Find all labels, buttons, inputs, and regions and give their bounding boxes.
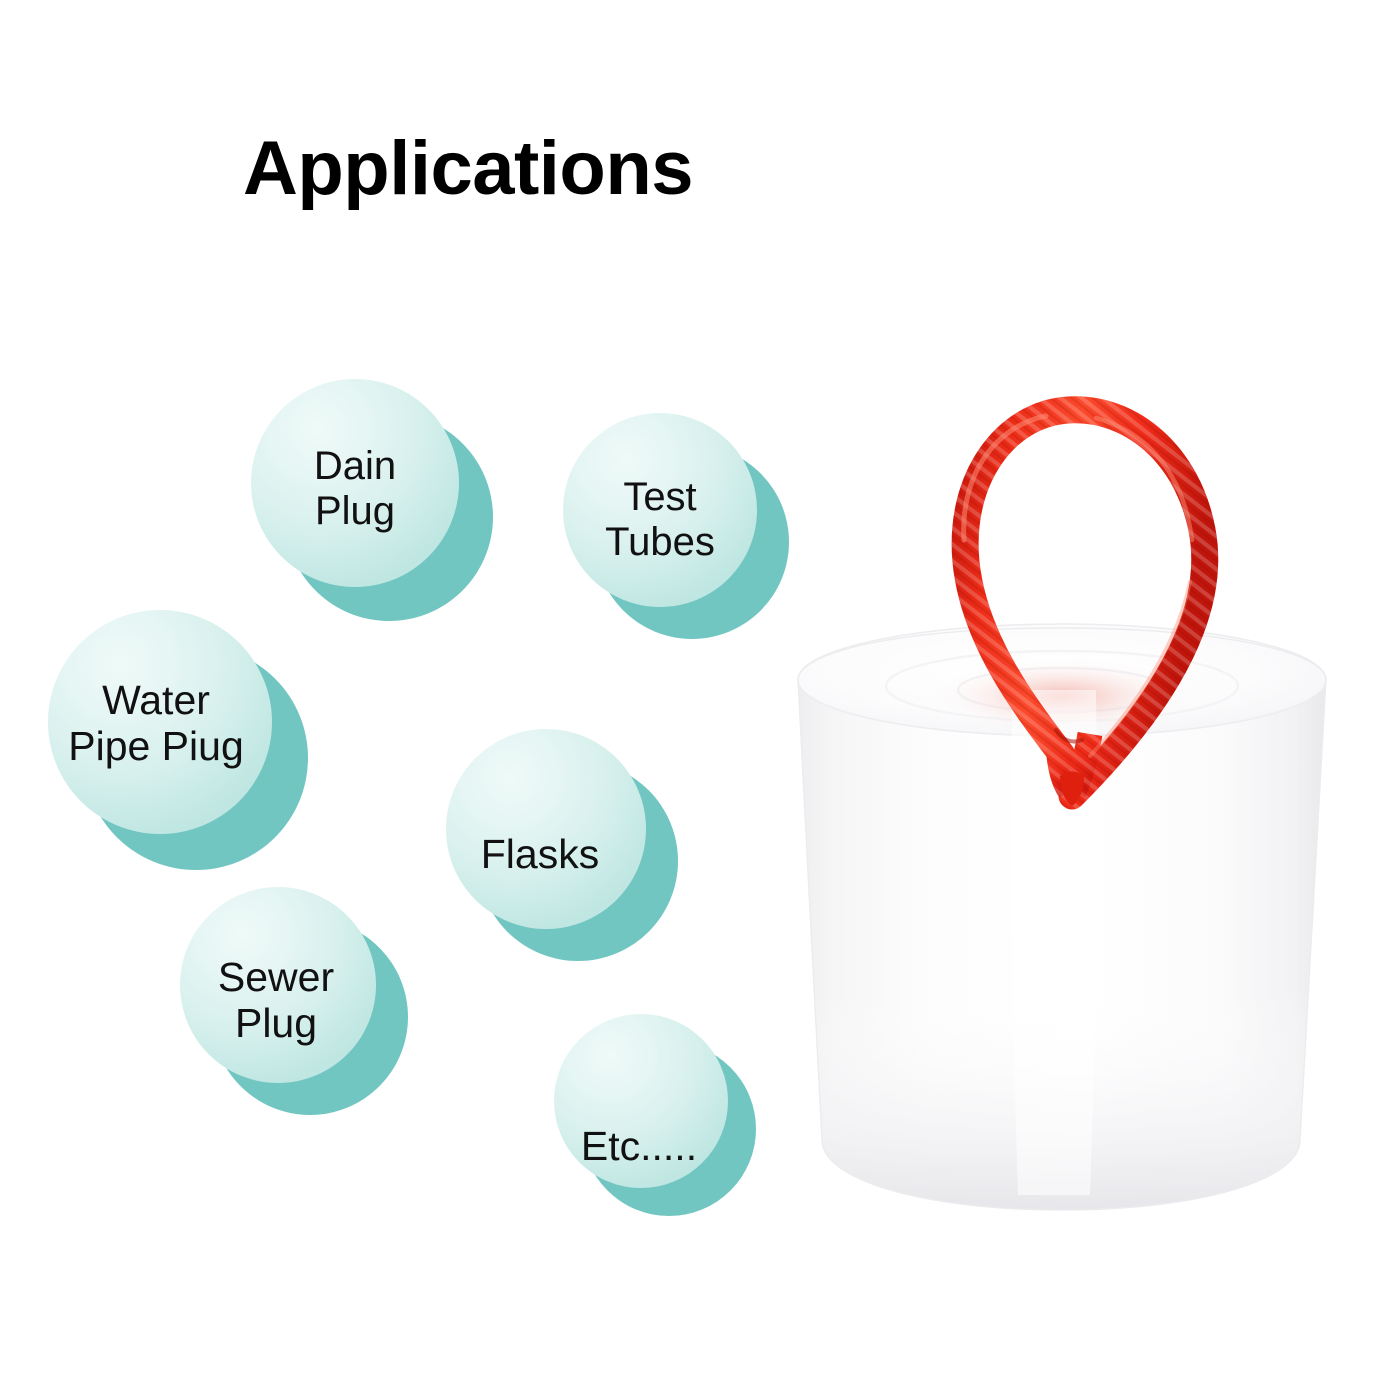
- bubble-label: Etc.....: [552, 1060, 726, 1234]
- application-bubble-etc: Etc.....: [554, 1014, 756, 1216]
- bubble-label: Dain Plug: [251, 385, 459, 593]
- page-title: Applications: [243, 131, 693, 207]
- plug-body-group: [798, 624, 1326, 1210]
- application-bubble-dain-plug: Dain Plug: [251, 379, 493, 621]
- bubble-label: Test Tubes: [563, 423, 757, 617]
- infographic-canvas: Applications Dain Plug Test Tubes Water …: [0, 0, 1400, 1400]
- bubble-label: Sewer Plug: [178, 903, 374, 1099]
- application-bubble-sewer-plug: Sewer Plug: [180, 887, 408, 1115]
- application-bubble-flasks: Flasks: [446, 729, 678, 961]
- bubble-label: Water Pipe Piug: [44, 612, 268, 836]
- product-photo-silicone-plug: [760, 210, 1380, 1240]
- application-bubble-water-pipe-piug: Water Pipe Piug: [48, 610, 308, 870]
- bubble-label: Flasks: [440, 755, 640, 955]
- application-bubble-test-tubes: Test Tubes: [563, 413, 789, 639]
